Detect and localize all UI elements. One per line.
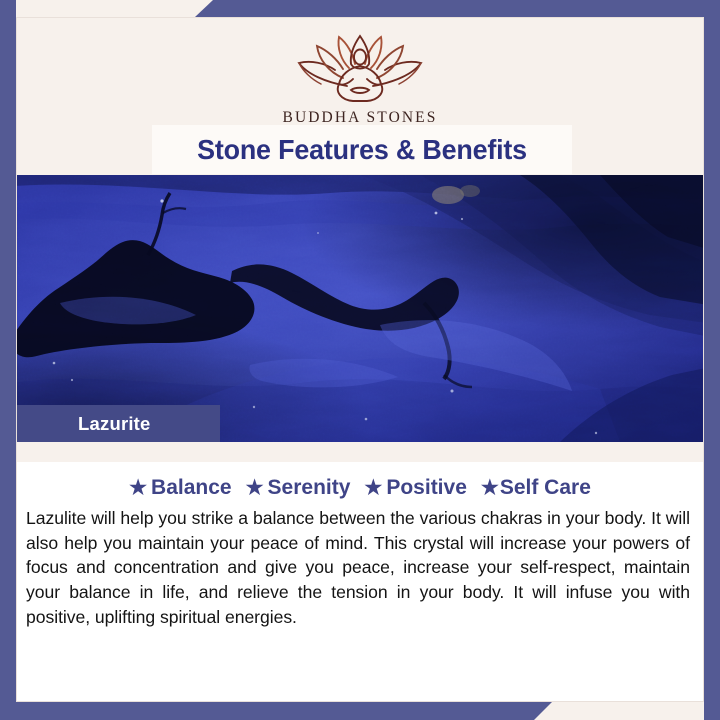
stone-name-label: Lazurite [78,413,151,435]
frame-top-accent [195,0,720,17]
frame-left-border [0,0,16,720]
benefits-row: ★ Balance ★ Serenity ★ Positive ★ Self C… [16,462,704,500]
benefit-label: Balance [151,476,232,500]
lotus-meditation-icon [285,30,435,104]
stone-photo [0,175,720,442]
infographic-card: BUDDHA STONES Stone Features & Benefits [0,0,720,720]
benefit-label: Positive [386,476,467,500]
star-icon: ★ [129,478,147,498]
stone-name-badge: Lazurite [16,405,220,442]
benefit-item-serenity: ★ Serenity [246,476,351,500]
header: BUDDHA STONES Stone Features & Benefits [16,18,704,176]
benefit-label: Self Care [500,476,591,500]
star-icon: ★ [364,478,382,498]
frame-bottom-accent [0,702,552,720]
frame-right-border [704,0,720,720]
content-top-strip [16,442,704,462]
brand-logo: BUDDHA STONES [16,30,704,127]
stone-photo-texture [0,175,720,442]
star-icon: ★ [481,478,499,498]
benefit-item-self-care: ★ Self Care [481,476,591,500]
star-icon: ★ [246,478,264,498]
description-paragraph: Lazulite will help you strike a balance … [26,506,690,629]
benefit-item-positive: ★ Positive [364,476,466,500]
page-title: Stone Features & Benefits [160,125,563,174]
benefit-label: Serenity [268,476,351,500]
benefit-item-balance: ★ Balance [129,476,231,500]
content-panel: ★ Balance ★ Serenity ★ Positive ★ Self C… [16,462,704,702]
